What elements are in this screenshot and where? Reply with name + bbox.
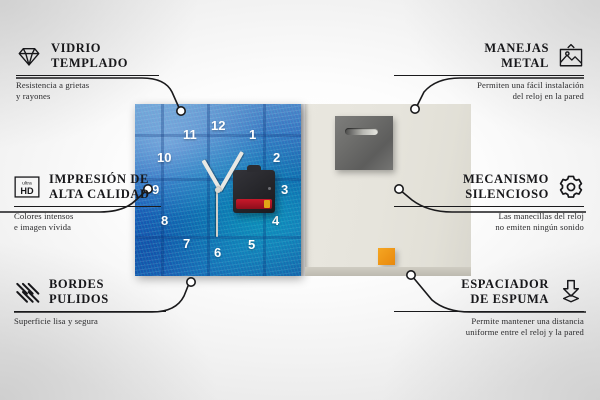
callout-rule <box>16 75 159 77</box>
clock-numeral-6: 6 <box>214 246 221 259</box>
callout-rule <box>394 311 584 313</box>
callout-description: Permite mantener una distancia uniforme … <box>394 316 584 339</box>
clock-pattern-line <box>135 236 301 239</box>
clock-pattern-line <box>207 104 210 276</box>
down-arrow-spacer-icon <box>558 279 584 305</box>
clock-pattern-line <box>135 134 301 137</box>
clock-numeral-4: 4 <box>272 214 279 227</box>
callout-header: BORDES PULIDOS <box>14 277 204 307</box>
callout-description: Superficie lisa y segura <box>14 316 204 327</box>
callout-header: ESPACIADOR DE ESPUMA <box>394 277 584 307</box>
callout-title: VIDRIO TEMPLADO <box>51 41 128 71</box>
callout-rule <box>14 311 166 313</box>
metal-hanger-plate <box>335 116 393 170</box>
gear-icon <box>558 174 584 200</box>
callout-title: BORDES PULIDOS <box>49 277 109 307</box>
infographic-canvas: 12 1 2 3 4 5 6 7 8 9 10 11 <box>0 0 600 400</box>
clock-numeral-1: 1 <box>249 128 256 141</box>
callout-description: Permiten una fácil instalación del reloj… <box>394 80 584 103</box>
callout-mecanismo-silencioso: MECANISMO SILENCIOSO Las manecillas del … <box>394 172 584 234</box>
callout-rule <box>14 206 161 208</box>
callout-manejas-metal: MANEJAS METAL Permiten una fácil instala… <box>394 41 584 103</box>
clock-numeral-11: 11 <box>183 128 197 141</box>
clock-second-hand <box>217 190 219 237</box>
clock-numeral-2: 2 <box>273 151 280 164</box>
callout-header: MECANISMO SILENCIOSO <box>394 172 584 202</box>
callout-description: Colores intensos e imagen vívida <box>14 211 204 234</box>
callout-header: VIDRIO TEMPLADO <box>16 41 206 71</box>
table-surface <box>305 267 471 276</box>
callout-impresion-alta-calidad: ultra HD IMPRESIÓN DE ALTA CALIDAD Color… <box>14 172 204 234</box>
picture-frame-icon <box>558 43 584 69</box>
callout-header: ultra HD IMPRESIÓN DE ALTA CALIDAD <box>14 172 204 202</box>
callout-rule <box>394 75 584 77</box>
clock-numeral-10: 10 <box>157 151 171 164</box>
clock-numeral-7: 7 <box>183 237 190 250</box>
ultra-hd-icon: ultra HD <box>14 174 40 200</box>
callout-title: MANEJAS METAL <box>484 41 549 71</box>
clock-center-pin <box>215 187 221 193</box>
polished-edges-icon <box>14 279 40 305</box>
callout-title: MECANISMO SILENCIOSO <box>463 172 549 202</box>
callout-description: Las manecillas del reloj no emiten ningú… <box>394 211 584 234</box>
clock-numeral-5: 5 <box>248 238 255 251</box>
callout-title: ESPACIADOR DE ESPUMA <box>461 277 549 307</box>
callout-espaciador-espuma: ESPACIADOR DE ESPUMA Permite mantener un… <box>394 277 584 339</box>
callout-rule <box>394 206 584 208</box>
callout-title: IMPRESIÓN DE ALTA CALIDAD <box>49 172 150 202</box>
hanger-slot <box>345 128 378 135</box>
foam-spacer <box>378 248 395 265</box>
callout-description: Resistencia a grietas y rayones <box>16 80 206 103</box>
battery <box>236 199 272 209</box>
mechanism-dot <box>268 187 271 190</box>
ultra-hd-icon-bottom: HD <box>20 186 34 196</box>
callout-bordes-pulidos: BORDES PULIDOS Superficie lisa y segura <box>14 277 204 327</box>
callout-vidrio-templado: VIDRIO TEMPLADO Resistencia a grietas y … <box>16 41 206 103</box>
callout-header: MANEJAS METAL <box>394 41 584 71</box>
mechanism-shaft <box>247 165 261 172</box>
clock-numeral-3: 3 <box>281 183 288 196</box>
battery-tip <box>264 200 270 208</box>
clock-mechanism <box>233 170 275 213</box>
clock-numeral-12: 12 <box>211 119 225 132</box>
diamond-icon <box>16 43 42 69</box>
